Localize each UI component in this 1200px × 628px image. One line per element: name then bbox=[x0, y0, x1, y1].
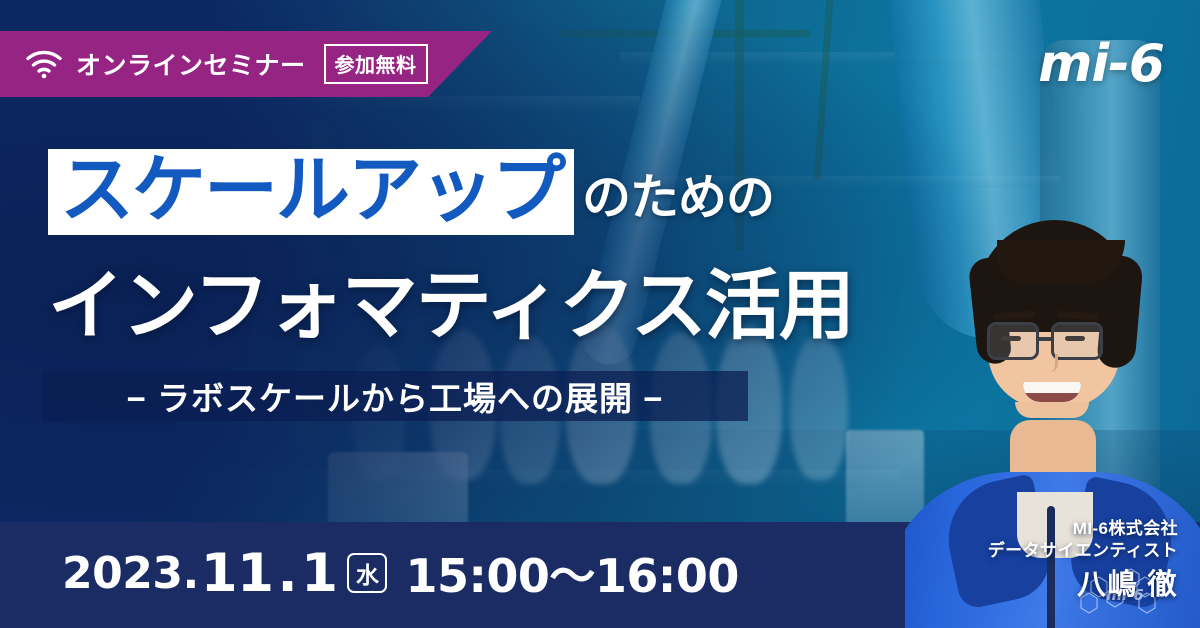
portrait-mouth bbox=[1023, 382, 1081, 402]
wifi-icon bbox=[26, 49, 62, 79]
portrait-chin bbox=[1015, 402, 1089, 418]
schedule-row: 2023. 11 . 1 水 15:00〜16:00 bbox=[62, 540, 739, 606]
schedule-month: 11 bbox=[201, 543, 274, 604]
subtitle-text: − ラボスケールから工場への展開 − bbox=[127, 372, 664, 420]
portrait-glasses-bridge bbox=[1039, 337, 1053, 341]
headline-line-1: スケールアップ のための bbox=[48, 145, 908, 235]
speaker-role: データサイエンティスト bbox=[988, 540, 1178, 562]
portrait-teeth bbox=[1023, 382, 1081, 393]
schedule-day-of-week-badge: 水 bbox=[347, 553, 387, 593]
ribbon-content: オンラインセミナー 参加無料 bbox=[0, 44, 428, 84]
schedule-day: 1 bbox=[301, 543, 337, 604]
portrait-glasses-left-lens bbox=[987, 322, 1039, 360]
headline-block: スケールアップ のための インフォマティクス活用 bbox=[48, 145, 908, 354]
speaker-info: MI-6株式会社 データサイエンティスト 八嶋 徹 bbox=[988, 518, 1178, 604]
headline-line-2: インフォマティクス活用 bbox=[48, 244, 908, 354]
headline-tail-text: のための bbox=[582, 158, 774, 235]
ribbon-label: オンラインセミナー bbox=[76, 46, 306, 82]
webinar-banner: オンラインセミナー 参加無料 mi-6 スケールアップ のための インフォマティ… bbox=[0, 0, 1200, 628]
mi6-logo[interactable]: mi-6 bbox=[1038, 34, 1164, 94]
schedule-year: 2023. bbox=[62, 548, 199, 599]
free-entry-badge: 参加無料 bbox=[324, 44, 428, 84]
portrait-glasses-right-lens bbox=[1051, 322, 1103, 360]
schedule-dot: . bbox=[277, 543, 297, 604]
headline-highlight-text: スケールアップ bbox=[60, 147, 564, 233]
headline-highlight-box: スケールアップ bbox=[48, 149, 574, 235]
schedule-time: 15:00〜16:00 bbox=[405, 540, 738, 606]
speaker-name: 八嶋 徹 bbox=[988, 566, 1178, 604]
online-seminar-ribbon: オンラインセミナー 参加無料 bbox=[0, 31, 492, 97]
subtitle-box: − ラボスケールから工場への展開 − bbox=[42, 371, 748, 421]
speaker-company: MI-6株式会社 bbox=[988, 518, 1178, 540]
